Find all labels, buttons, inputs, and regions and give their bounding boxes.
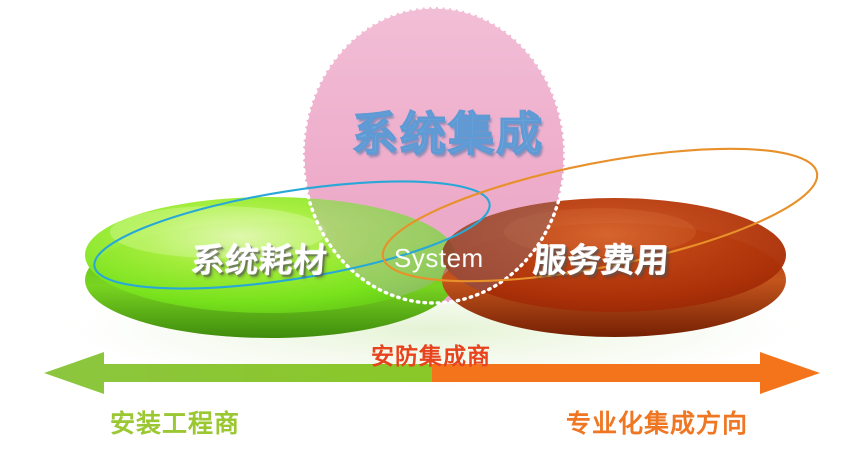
diagram-canvas: 系统集成 系统集成 系统耗材 服务费用 System 安防集成商 安装工程商 专… (0, 0, 865, 450)
venn-diagram-graphic (0, 0, 865, 450)
axis-left-label: 安装工程商 (110, 404, 240, 440)
center-system-label: System (394, 243, 484, 274)
axis-right-label: 专业化集成方向 (566, 404, 748, 440)
axis-center-label: 安防集成商 (371, 337, 491, 371)
integration-title-outline: 系统集成 (352, 98, 544, 164)
consumables-label: 系统耗材 (190, 234, 329, 282)
service-label: 服务费用 (532, 234, 671, 282)
